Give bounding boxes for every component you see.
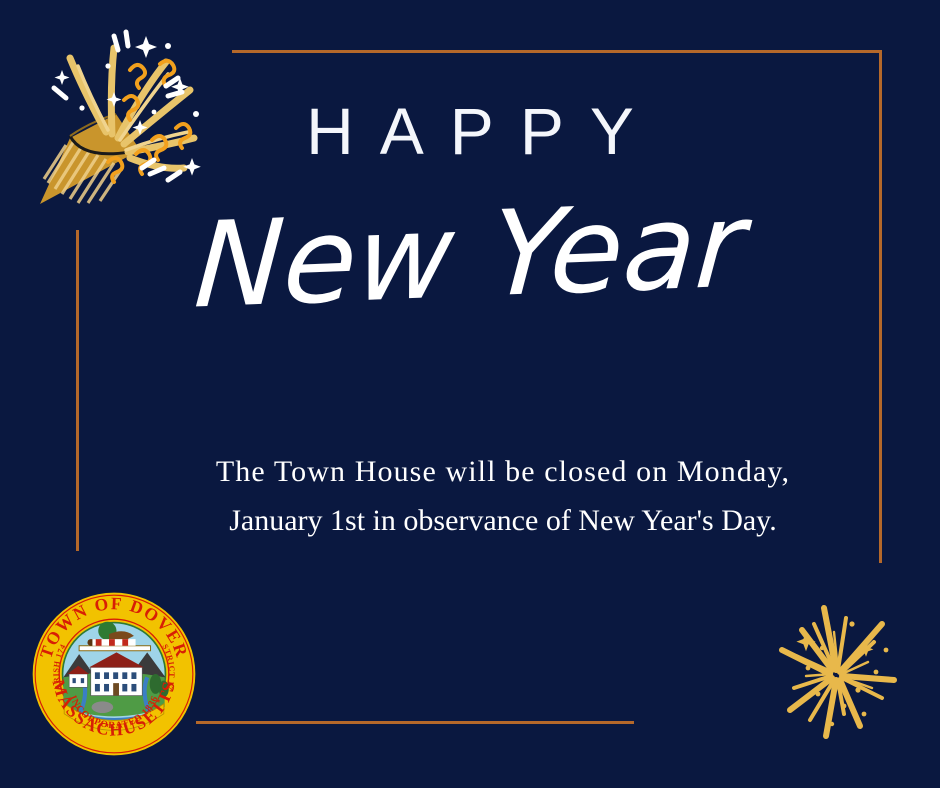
announcement-message: The Town House will be closed on Monday,… (150, 448, 856, 545)
town-of-dover-seal: INCORPORATED 1836 TOWN OF DOVER MASSACHU… (31, 591, 197, 757)
message-line-2: January 1st in observance of New Year's … (150, 497, 856, 546)
new-year-announcement-poster: HAPPY New Year The Town House will be cl… (0, 0, 940, 788)
frame-line-bottom (196, 721, 634, 724)
message-line-1: The Town House will be closed on Monday, (150, 448, 856, 497)
page-title: HAPPY (0, 98, 940, 164)
firework-starburst-icon (748, 584, 928, 764)
frame-line-top (232, 50, 882, 53)
